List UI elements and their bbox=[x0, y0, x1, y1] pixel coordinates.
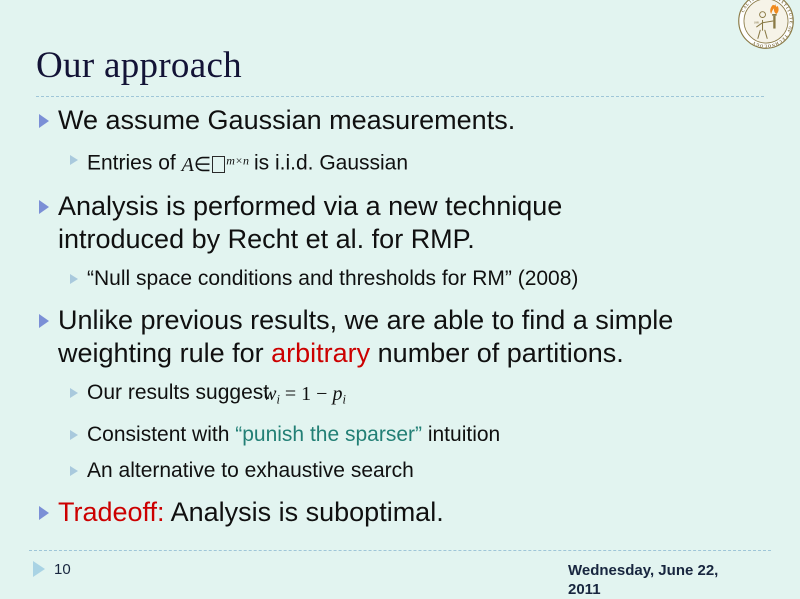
sub-bullet-suffix: intuition bbox=[422, 423, 500, 446]
sub-bullet-text: Consistent with “punish the sparser” int… bbox=[87, 421, 500, 448]
bullet-line-1: Analysis is performed via a new techniqu… bbox=[58, 191, 562, 221]
sub-bullet-prefix: Entries of bbox=[87, 152, 176, 175]
caltech-logo-icon: C A L I F O R N I A I N S T I T U T E O bbox=[737, 0, 795, 50]
bullet-line-2: introduced by Recht et al. for RMP. bbox=[58, 224, 475, 254]
sub-bullet-item: Consistent with “punish the sparser” int… bbox=[0, 421, 800, 448]
bullet-text-rest: Analysis is suboptimal. bbox=[165, 497, 444, 527]
slide-number: 10 bbox=[54, 561, 71, 578]
matrix-dimension-expression: A∈m×n bbox=[182, 154, 254, 176]
equation-operator: = 1 − bbox=[285, 383, 328, 405]
bullet-text: Unlike previous results, we are able to … bbox=[58, 304, 673, 370]
sub-bullet-prefix: Consistent with bbox=[87, 423, 235, 446]
slide-date: Wednesday, June 22, 2011 bbox=[568, 561, 738, 599]
sub-bullet-suffix: is i.i.d. Gaussian bbox=[254, 152, 408, 175]
spacer bbox=[0, 448, 800, 457]
spacer bbox=[0, 370, 800, 379]
emphasis-tradeoff: Tradeoff: bbox=[58, 497, 165, 527]
bullet-item: Tradeoff: Analysis is suboptimal. bbox=[0, 496, 800, 529]
bullet-triangle-icon bbox=[39, 506, 49, 520]
bullet-triangle-icon bbox=[39, 314, 49, 328]
element-of-symbol: ∈ bbox=[194, 154, 211, 176]
sub-bullet-text: “Null space conditions and thresholds fo… bbox=[87, 265, 578, 292]
bullet-text: Analysis is performed via a new techniqu… bbox=[58, 190, 562, 256]
spacer bbox=[0, 256, 800, 265]
svg-text:1891: 1891 bbox=[754, 20, 760, 24]
svg-text:E: E bbox=[789, 21, 794, 24]
spacer bbox=[0, 178, 800, 190]
bullet-item: We assume Gaussian measurements. bbox=[0, 104, 800, 137]
bullet-triangle-icon bbox=[70, 430, 78, 440]
spacer bbox=[0, 484, 800, 496]
bullet-triangle-icon bbox=[39, 114, 49, 128]
emphasis-arbitrary: arbitrary bbox=[271, 338, 370, 368]
bullet-line-1: Unlike previous results, we are able to … bbox=[58, 305, 673, 335]
slide-body: We assume Gaussian measurements. Entries… bbox=[0, 104, 800, 529]
probability-symbol: p bbox=[332, 383, 342, 405]
footer-divider bbox=[29, 550, 771, 551]
title-divider bbox=[36, 96, 764, 97]
bullet-triangle-icon bbox=[70, 388, 78, 398]
matrix-dimensions: m×n bbox=[226, 153, 249, 167]
spacer bbox=[0, 292, 800, 304]
bullet-triangle-icon bbox=[70, 274, 78, 284]
sub-bullet-text: Entries of A∈m×n is i.i.d. Gaussian bbox=[87, 146, 408, 178]
bullet-text: Tradeoff: Analysis is suboptimal. bbox=[58, 496, 444, 529]
svg-text:L: L bbox=[764, 44, 767, 49]
weight-index: i bbox=[276, 392, 279, 406]
sub-bullet-text: Our results suggestwi = 1 − pi bbox=[87, 379, 346, 412]
bullet-line-2-suffix: number of partitions. bbox=[370, 338, 624, 368]
spacer bbox=[0, 137, 800, 146]
missing-glyph-box-icon bbox=[212, 156, 225, 173]
bullet-item: Unlike previous results, we are able to … bbox=[0, 304, 800, 370]
bullet-triangle-icon bbox=[70, 466, 78, 476]
spacer bbox=[0, 412, 800, 421]
sub-bullet-text: An alternative to exhaustive search bbox=[87, 457, 414, 484]
sub-bullet-label: Our results suggest bbox=[87, 381, 269, 404]
bullet-text: We assume Gaussian measurements. bbox=[58, 104, 515, 137]
sub-bullet-item: “Null space conditions and thresholds fo… bbox=[0, 265, 800, 292]
emphasis-punish-the-sparser: “punish the sparser” bbox=[235, 423, 422, 446]
probability-index: i bbox=[342, 392, 345, 406]
sub-bullet-item: Our results suggestwi = 1 − pi bbox=[0, 379, 800, 412]
footer-triangle-icon bbox=[33, 561, 45, 577]
sub-bullet-item: Entries of A∈m×n is i.i.d. Gaussian bbox=[0, 146, 800, 178]
matrix-symbol: A bbox=[182, 154, 194, 176]
bullet-line-2-prefix: weighting rule for bbox=[58, 338, 271, 368]
bullet-triangle-icon bbox=[39, 200, 49, 214]
weighting-rule-equation: wi = 1 − pi bbox=[263, 383, 346, 405]
page-title: Our approach bbox=[36, 44, 242, 88]
sub-bullet-item: An alternative to exhaustive search bbox=[0, 457, 800, 484]
weight-symbol: w bbox=[263, 383, 276, 405]
presentation-slide: C A L I F O R N I A I N S T I T U T E O bbox=[0, 0, 800, 599]
bullet-triangle-icon bbox=[70, 155, 78, 165]
bullet-item: Analysis is performed via a new techniqu… bbox=[0, 190, 800, 256]
